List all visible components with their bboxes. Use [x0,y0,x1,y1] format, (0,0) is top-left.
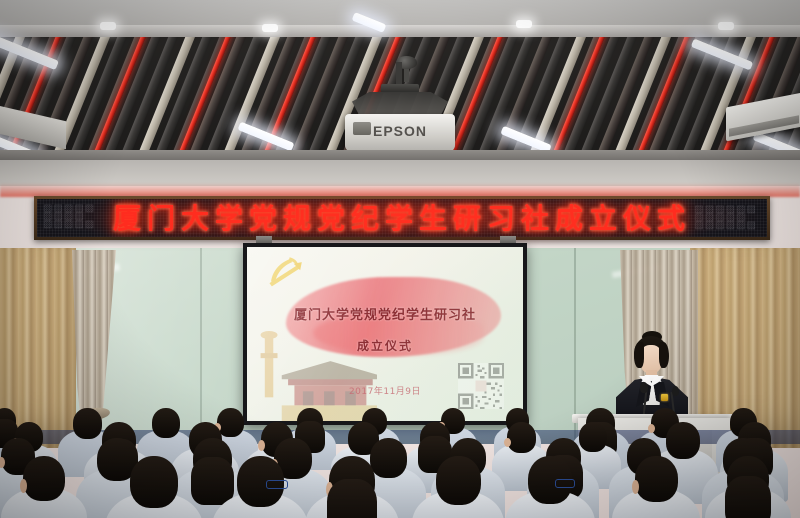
ceiling-light-spot [516,20,532,28]
led-banner-pixel-noise: ▨▨▨▨▨▨▨▨▨▨▨▨▨▨ [43,205,95,229]
ceiling-soffit [0,25,800,37]
projector-mount-plate [381,84,419,93]
audience-head [666,422,700,459]
projector: EPSON [345,114,455,152]
ceiling-light-spot [262,24,278,32]
audience-head [152,408,180,438]
led-banner: ▨▨▨▨▨▨▨▨▨▨▨▨▨▨ ▨▨▨▨▨▨▨▨▨▨▨▨▨▨▨▨▨ 厦门大学党规党… [34,196,770,240]
presentation-slide: 厦门大学党规党纪学生研习社 成立仪式 2017年11月9日 [247,247,523,421]
microphone-icon [672,386,679,396]
microphone-icon [640,382,648,393]
slide-title: 厦门大学党规党纪学生研习社 [247,304,523,323]
lecture-hall-photo: EPSON ▨▨▨▨▨▨▨▨▨▨▨▨▨▨ ▨▨▨▨▨▨▨▨▨▨▨▨▨▨▨▨▨ 厦… [0,0,800,518]
ceiling-light-spot [718,22,734,30]
led-banner-screen: ▨▨▨▨▨▨▨▨▨▨▨▨▨▨ ▨▨▨▨▨▨▨▨▨▨▨▨▨▨▨▨▨ 厦门大学党规党… [37,199,767,237]
party-emblem-icon [264,254,304,288]
audience-head [436,456,481,505]
audience-ear [648,424,655,433]
audience-long-hair [327,479,377,518]
audience-head [73,408,102,439]
audience-long-hair [191,457,234,505]
audience [0,400,800,518]
projection-screen: 厦门大学党规党纪学生研习社 成立仪式 2017年11月9日 [243,243,527,425]
audience-head [579,422,607,452]
projector-bracket [352,92,448,116]
audience-head [370,438,407,478]
projector-brand-label: EPSON [345,123,455,139]
ceiling-light-spot [100,22,116,30]
audience-long-hair [725,476,771,518]
audience-head [130,456,178,508]
speaker-hair-side-left [634,342,644,368]
slide-subtitle: 成立仪式 [247,337,523,354]
audience-glasses [555,479,575,488]
led-banner-pixel-noise: ▨▨▨▨▨▨▨▨▨▨▨▨▨▨▨▨▨ [694,206,757,230]
led-spill-light [0,183,800,197]
led-banner-text: 厦门大学党规党纪学生研习社成立仪式 [113,199,691,237]
audience-ear [632,480,639,494]
audience-head [635,456,678,502]
audience-glasses [266,480,288,489]
audience-head [23,456,65,501]
speaker-hair-side-right [659,342,669,368]
projector-mount-pole [396,62,402,86]
audience-head [507,422,536,453]
